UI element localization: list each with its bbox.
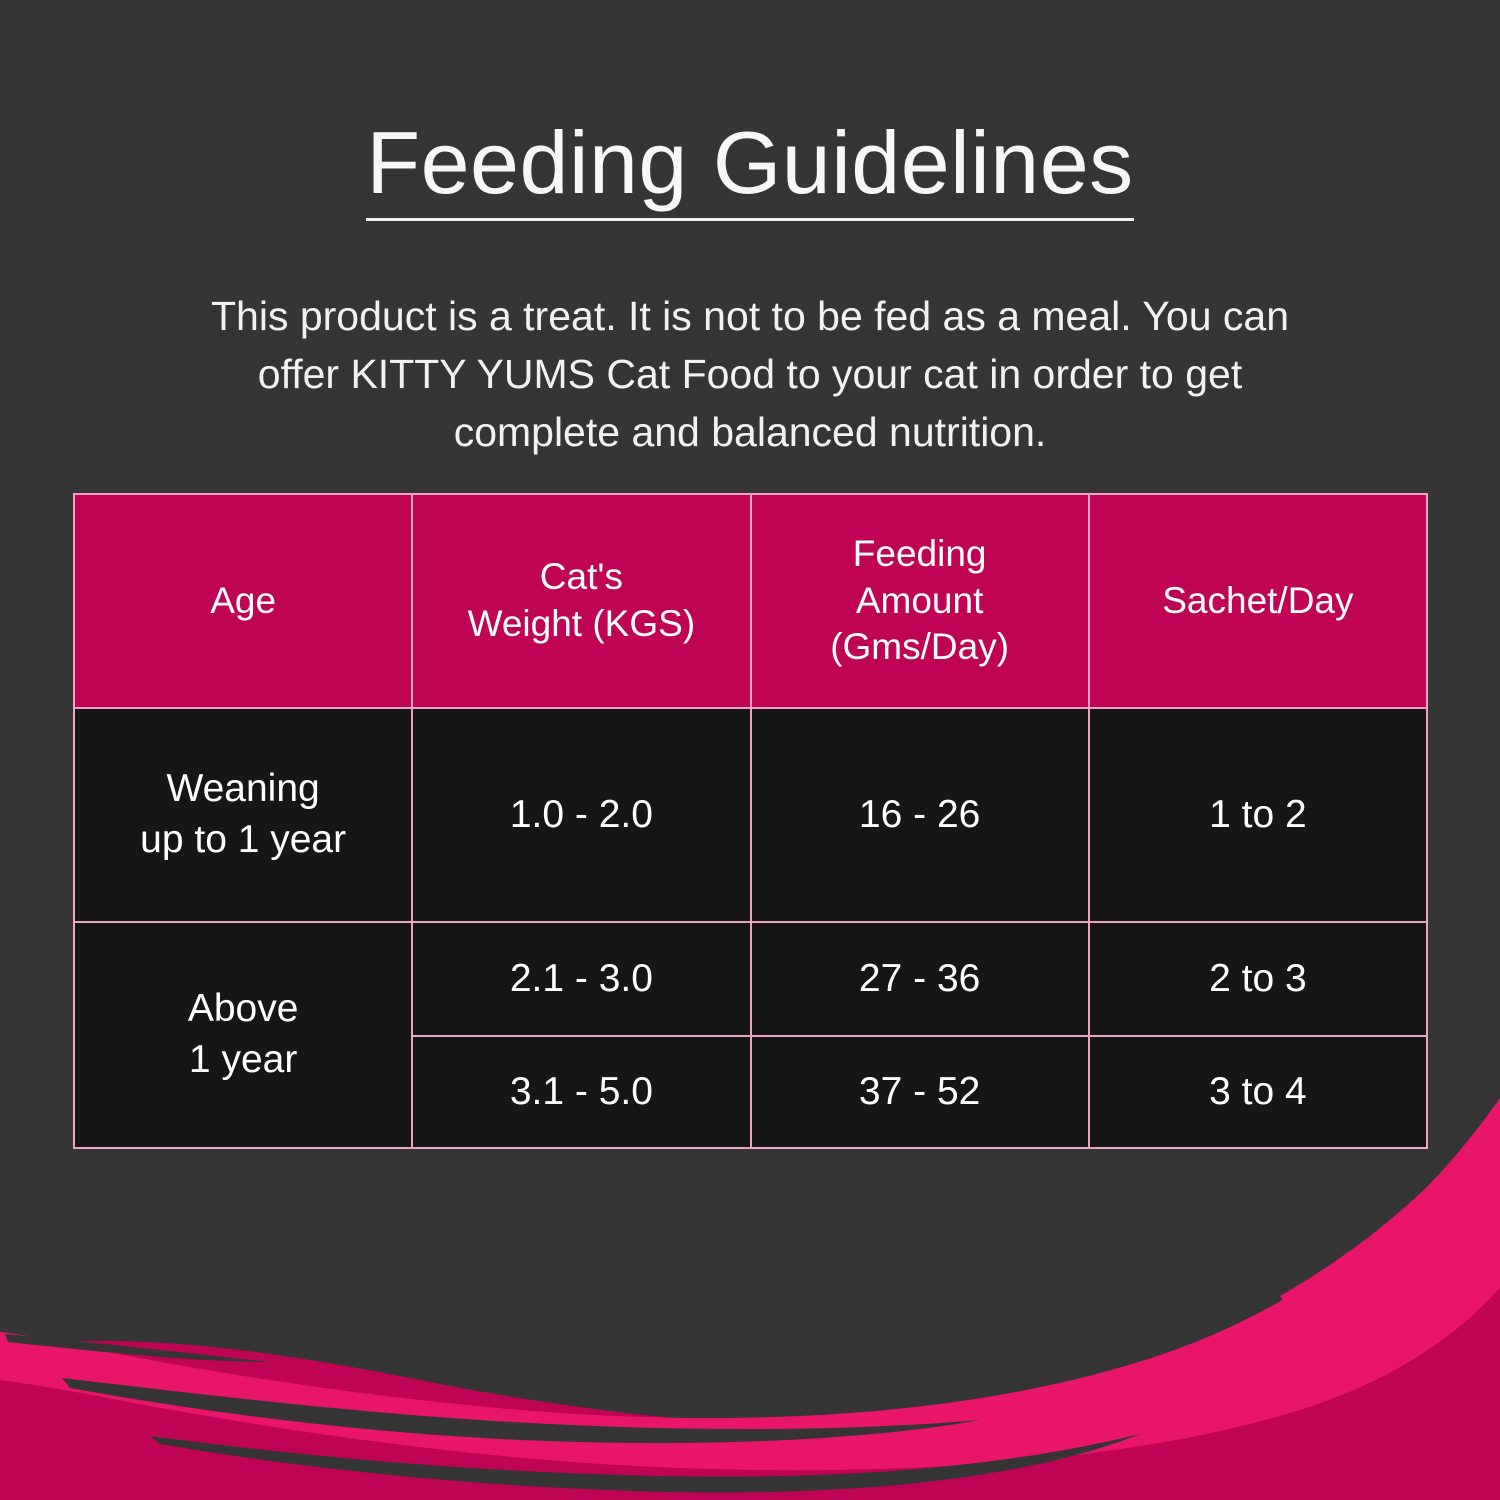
cell-amount-row1: 16 - 26 bbox=[751, 708, 1089, 922]
brush-texture-streak-2 bbox=[150, 1434, 1140, 1493]
brush-texture-streak-3 bbox=[5, 1334, 270, 1362]
cell-sachet-row1: 1 to 2 bbox=[1089, 708, 1427, 922]
cell-sachet-row3: 3 to 4 bbox=[1089, 1036, 1427, 1148]
column-header-amount: Feeding Amount (Gms/Day) bbox=[751, 494, 1089, 708]
brush-magenta-shape bbox=[0, 1098, 1500, 1470]
cell-amount-row2: 27 - 36 bbox=[751, 922, 1089, 1036]
brush-crimson-band bbox=[0, 1332, 1500, 1500]
table-row: Above 1 year 2.1 - 3.0 27 - 36 2 to 3 bbox=[74, 922, 1427, 1036]
column-header-amount-line1: Feeding bbox=[853, 533, 987, 574]
cell-weight-row3: 3.1 - 5.0 bbox=[412, 1036, 750, 1148]
table-header-row: Age Cat's Weight (KGS) Feeding Amount (G… bbox=[74, 494, 1427, 708]
cell-age-weaning-line1: Weaning bbox=[167, 767, 320, 810]
cell-age-weaning-line2: up to 1 year bbox=[140, 818, 346, 861]
cell-sachet-row2: 2 to 3 bbox=[1089, 922, 1427, 1036]
brush-texture-streak-1 bbox=[62, 1378, 980, 1443]
table-row: Weaning up to 1 year 1.0 - 2.0 16 - 26 1… bbox=[74, 708, 1427, 922]
column-header-age-label: Age bbox=[210, 580, 276, 621]
cell-age-above-line2: 1 year bbox=[189, 1038, 297, 1081]
brush-crimson-shape bbox=[0, 1230, 1500, 1500]
cell-weight-row1: 1.0 - 2.0 bbox=[412, 708, 750, 922]
feeding-table-container: Age Cat's Weight (KGS) Feeding Amount (G… bbox=[73, 493, 1428, 1093]
column-header-weight-line2: Weight (KGS) bbox=[468, 603, 696, 644]
column-header-amount-line3: (Gms/Day) bbox=[830, 626, 1009, 667]
feeding-guidelines-page: Feeding Guidelines This product is a tre… bbox=[0, 0, 1500, 1500]
column-header-weight: Cat's Weight (KGS) bbox=[412, 494, 750, 708]
cell-amount-row3: 37 - 52 bbox=[751, 1036, 1089, 1148]
page-title-container: Feeding Guidelines bbox=[0, 56, 1500, 280]
column-header-weight-line1: Cat's bbox=[540, 556, 623, 597]
cell-age-weaning: Weaning up to 1 year bbox=[74, 708, 412, 922]
feeding-guidelines-table: Age Cat's Weight (KGS) Feeding Amount (G… bbox=[73, 493, 1428, 1149]
brush-texture-streak-4 bbox=[1280, 1120, 1490, 1324]
column-header-age: Age bbox=[74, 494, 412, 708]
column-header-sachet: Sachet/Day bbox=[1089, 494, 1427, 708]
cell-age-above: Above 1 year bbox=[74, 922, 412, 1148]
column-header-amount-line2: Amount bbox=[856, 580, 984, 621]
cell-age-above-line1: Above bbox=[188, 987, 299, 1030]
cell-weight-row2: 2.1 - 3.0 bbox=[412, 922, 750, 1036]
column-header-sachet-label: Sachet/Day bbox=[1162, 580, 1353, 621]
page-title: Feeding Guidelines bbox=[366, 115, 1133, 221]
intro-paragraph: This product is a treat. It is not to be… bbox=[190, 287, 1310, 462]
table-header: Age Cat's Weight (KGS) Feeding Amount (G… bbox=[74, 494, 1427, 708]
table-body: Weaning up to 1 year 1.0 - 2.0 16 - 26 1… bbox=[74, 708, 1427, 1148]
